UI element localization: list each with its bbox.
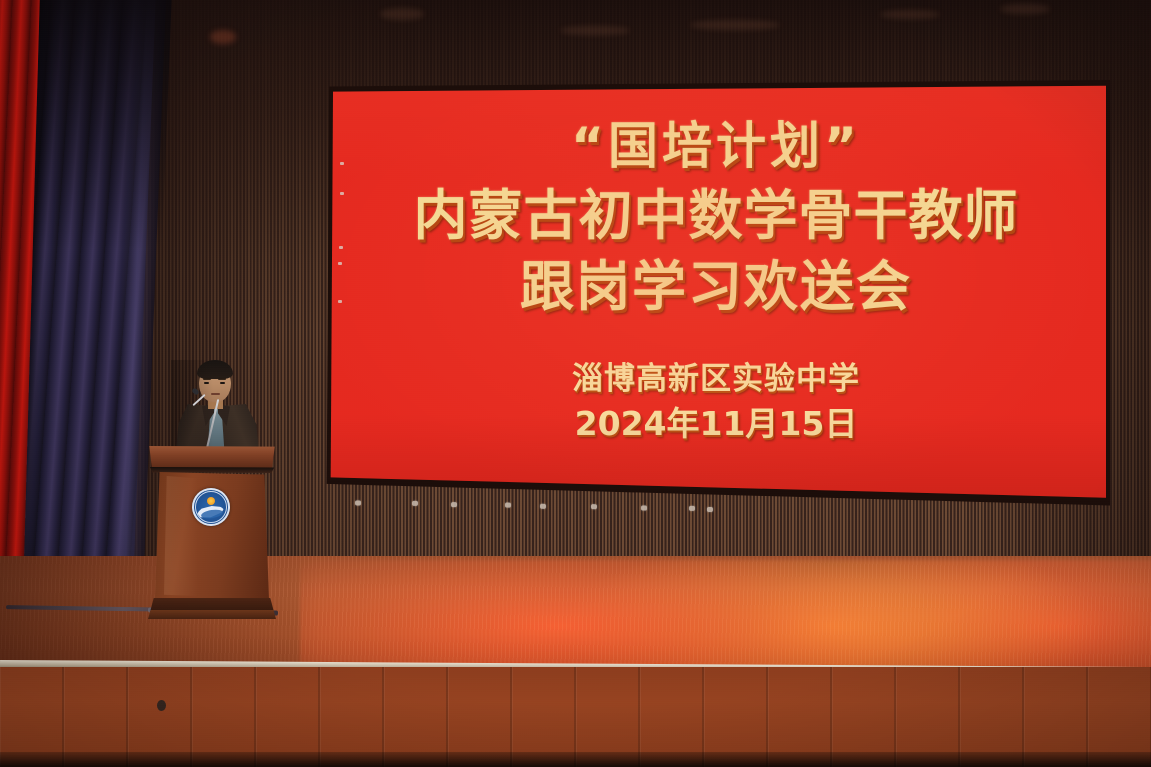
eye-left [204,382,209,384]
bezel-speck [339,246,343,249]
hair [197,360,233,379]
mount-stud [540,504,546,509]
emblem-caption: ······· [192,491,230,494]
podium-top-surface [148,446,276,468]
ceiling-reflection [1000,4,1050,14]
screen-text-block: “国培计划” 内蒙古初中数学骨干教师 跟岗学习欢送会 淄博高新区实验中学 202… [326,84,1106,507]
podium-plinth [148,610,276,619]
mount-stud [412,501,418,506]
mount-stud [641,506,647,511]
headline-line-3: 跟岗学习欢送会 [520,258,912,315]
foreground-shadow [0,752,1151,767]
ceiling-reflection [210,30,236,44]
mount-stud [355,500,361,505]
ceiling-reflection [380,8,424,20]
stage-panel-outlet-icon [157,700,166,711]
mouth [211,393,220,395]
mount-stud [505,503,511,508]
led-banner-screen: “国培计划” 内蒙古初中数学骨干教师 跟岗学习欢送会 淄博高新区实验中学 202… [326,84,1106,507]
bezel-speck [340,162,344,165]
eyebrow-left [203,378,211,380]
mount-stud [451,502,457,507]
headline-line-2: 内蒙古初中数学骨干教师 [414,187,1019,244]
emblem-sun-icon [207,497,215,505]
podium-base [150,598,274,612]
photo-scene: “国培计划” 内蒙古初中数学骨干教师 跟岗学习欢送会 淄博高新区实验中学 202… [0,0,1151,767]
ceiling-reflection [690,20,780,30]
eye-right [220,382,225,384]
subtitle-school-name: 淄博高新区实验中学 [572,361,860,398]
mount-stud [591,504,597,509]
bezel-speck [340,192,344,195]
bezel-speck [338,262,342,265]
bezel-speck [338,300,342,303]
ceiling-reflection [560,26,630,35]
stage-red-light-spill [300,560,1151,670]
headline-line-1: “国培计划” [571,120,861,173]
speaker-at-podium [171,360,265,452]
subtitle-date: 2024年11月15日 [575,405,858,444]
ceiling-reflection [880,10,940,19]
curtain-top-shadow [17,0,172,250]
school-emblem: ······· [192,488,230,526]
podium-lip [150,467,274,473]
eyebrow-right [218,378,226,380]
mount-stud [689,506,695,511]
speaker-podium: ······· [148,446,276,622]
mount-stud [707,507,713,512]
